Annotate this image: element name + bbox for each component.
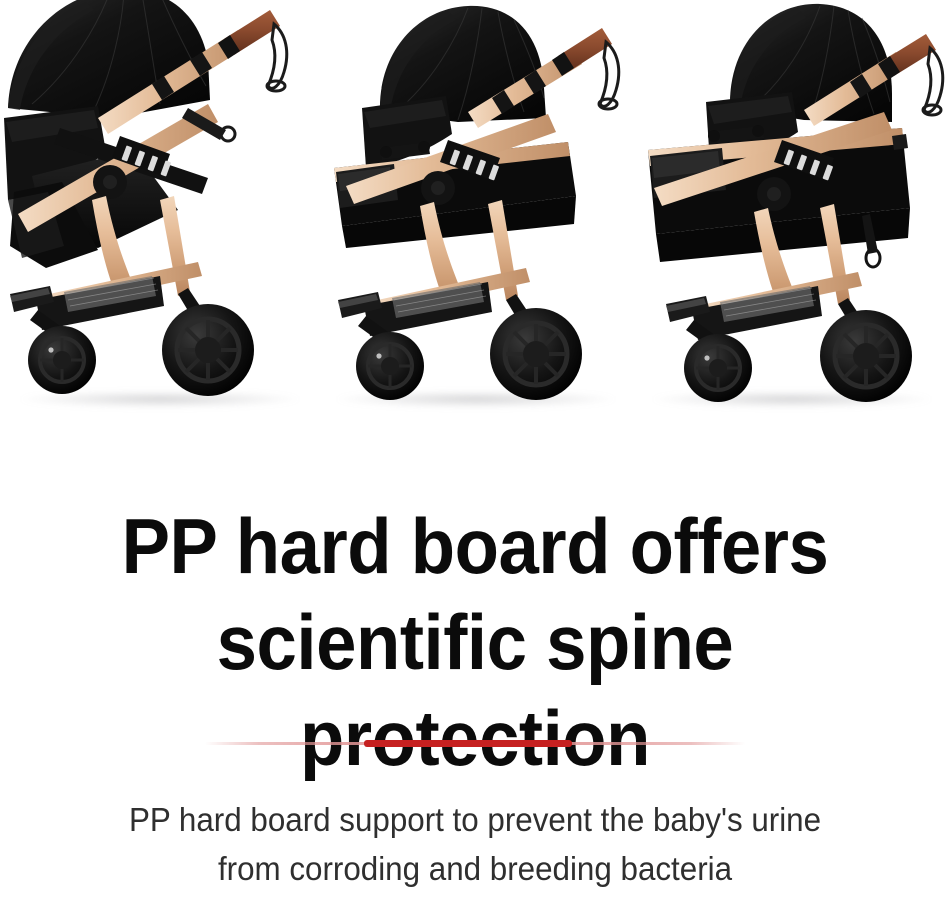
product-image-carrycot[interactable]	[634, 0, 950, 430]
front-wheel	[356, 332, 424, 400]
divider-accent-segment	[364, 740, 572, 747]
canopy	[8, 0, 210, 118]
rear-wheel	[820, 310, 912, 402]
stroller-illustration-2	[318, 0, 634, 430]
rear-wheel	[490, 308, 582, 400]
product-feature-banner: PP hard board offers scientific spine pr…	[0, 0, 950, 897]
front-wheel	[684, 334, 752, 402]
product-image-reclined-seat[interactable]	[2, 0, 318, 430]
subtitle: PP hard board support to prevent the bab…	[24, 795, 927, 893]
front-wheel	[28, 326, 96, 394]
wrist-strap	[600, 42, 619, 106]
stroller-illustration-1	[2, 0, 318, 430]
wrist-strap	[268, 24, 287, 88]
rear-wheel	[162, 304, 254, 396]
stroller-illustration-3	[634, 0, 950, 430]
red-accent-divider	[0, 736, 950, 750]
product-image-flat-bassinet[interactable]	[318, 0, 634, 430]
stroller-product-gallery	[0, 0, 950, 430]
wrist-strap	[924, 48, 943, 112]
